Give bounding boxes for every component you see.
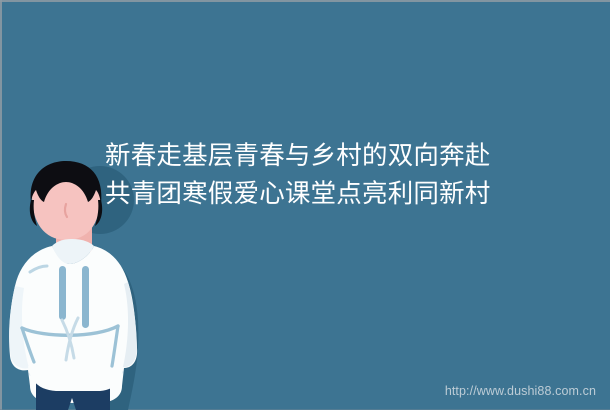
drawstring-left: [59, 266, 66, 320]
thumbnail-canvas: 新春走基层青春与乡村的双向奔赴 共青团寒假爱心课堂点亮利同新村 http://w…: [0, 0, 610, 410]
drawstring-right: [82, 266, 89, 328]
top-border: [0, 0, 610, 2]
watermark-url: http://www.dushi88.com.cn: [445, 384, 596, 398]
headline: 新春走基层青春与乡村的双向奔赴 共青团寒假爱心课堂点亮利同新村: [105, 137, 597, 213]
headline-line-1: 新春走基层青春与乡村的双向奔赴: [105, 137, 597, 175]
headline-line-2: 共青团寒假爱心课堂点亮利同新村: [105, 175, 597, 213]
